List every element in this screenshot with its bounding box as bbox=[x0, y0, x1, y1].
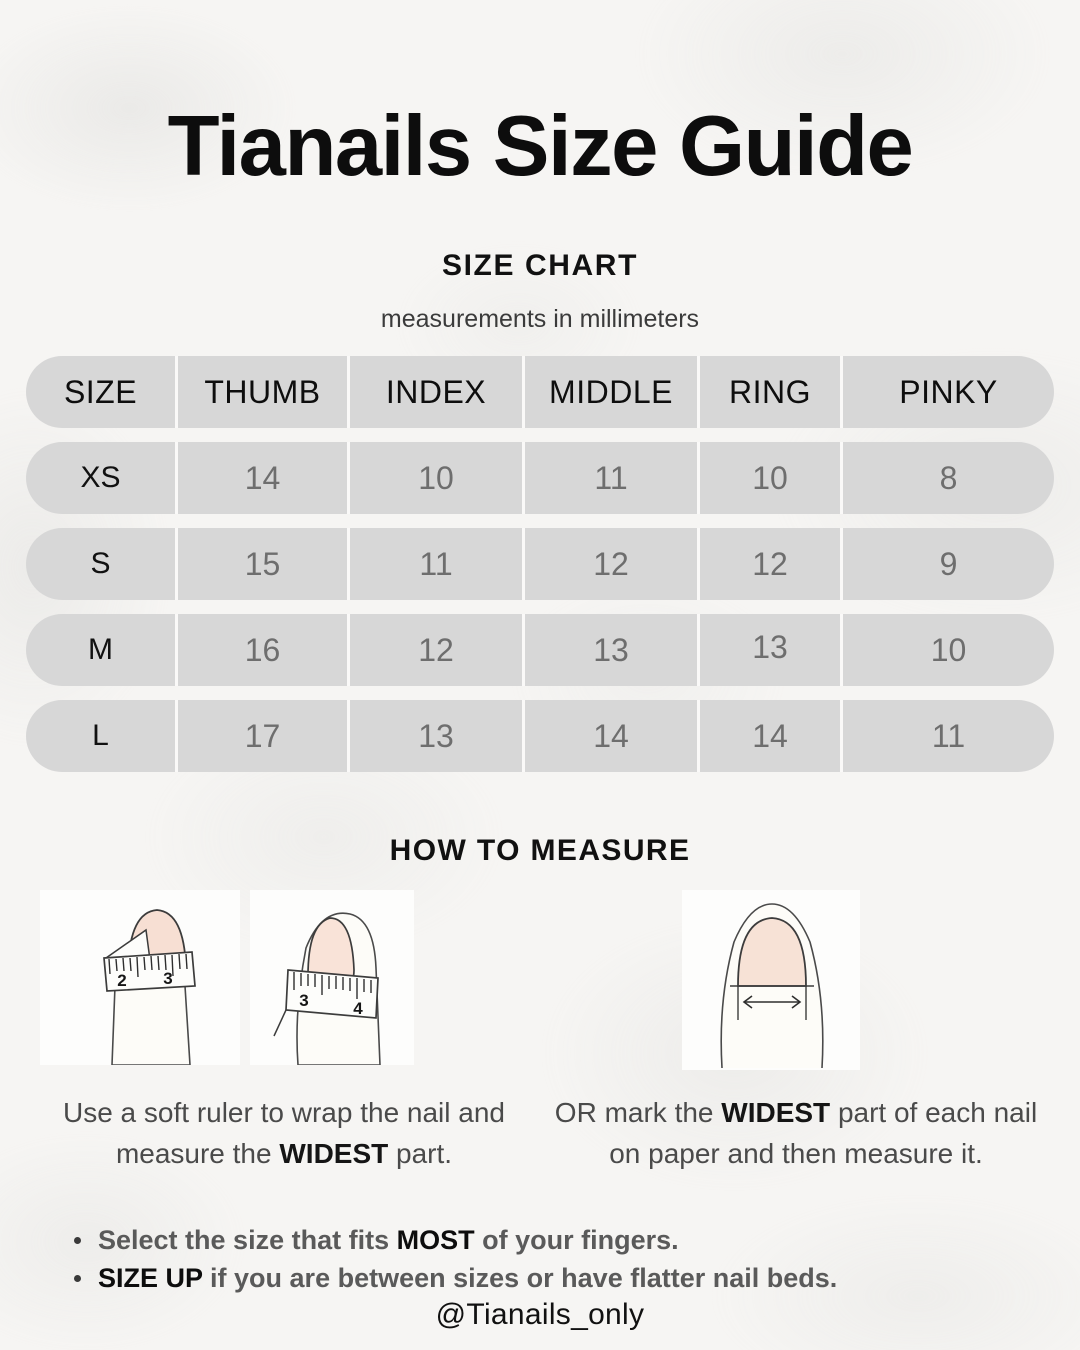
finger-with-tape-ruler-3-4-icon: 3 4 bbox=[250, 890, 414, 1065]
cell-pinky: 10 bbox=[843, 614, 1054, 686]
table-row: S 15 11 12 12 9 bbox=[26, 528, 1054, 600]
cell-ring: 10 bbox=[700, 442, 843, 514]
size-guide-page: Tianails Size Guide SIZE CHART measureme… bbox=[0, 0, 1080, 1350]
caption-right-emphasis: WIDEST bbox=[721, 1097, 830, 1128]
table-row: M 16 12 13 13 10 bbox=[26, 614, 1054, 686]
list-item: Select the size that fits MOST of your f… bbox=[74, 1221, 1080, 1259]
cell-middle: 14 bbox=[525, 700, 700, 772]
nail-widest-part-arrow-icon bbox=[682, 890, 860, 1070]
caption-left: Use a soft ruler to wrap the nail and me… bbox=[28, 1092, 540, 1175]
cell-index: 13 bbox=[350, 700, 525, 772]
illustrations-row: 2 3 bbox=[0, 890, 1080, 1070]
column-header-pinky: PINKY bbox=[843, 356, 1054, 428]
column-header-index: INDEX bbox=[350, 356, 525, 428]
list-item: SIZE UP if you are between sizes or have… bbox=[74, 1259, 1080, 1297]
caption-left-emphasis: WIDEST bbox=[279, 1138, 388, 1169]
tip-emphasis: SIZE UP bbox=[98, 1263, 203, 1293]
sizing-tips-list: Select the size that fits MOST of your f… bbox=[0, 1221, 1080, 1298]
caption-left-text-2: part. bbox=[388, 1138, 452, 1169]
cell-thumb: 14 bbox=[178, 442, 350, 514]
cell-size: M bbox=[26, 614, 178, 686]
caption-right-text-1: OR mark the bbox=[555, 1097, 721, 1128]
cell-pinky: 8 bbox=[843, 442, 1054, 514]
social-handle: @Tianails_only bbox=[0, 1298, 1080, 1332]
captions-row: Use a soft ruler to wrap the nail and me… bbox=[0, 1092, 1080, 1175]
illustration-panel-2: 3 4 bbox=[250, 890, 414, 1065]
cell-size: XS bbox=[26, 442, 178, 514]
illustration-panel-1: 2 3 bbox=[40, 890, 240, 1065]
cell-index: 11 bbox=[350, 528, 525, 600]
tip-emphasis: MOST bbox=[397, 1225, 475, 1255]
cell-middle: 11 bbox=[525, 442, 700, 514]
cell-middle: 13 bbox=[525, 614, 700, 686]
how-to-measure-heading: HOW TO MEASURE bbox=[0, 834, 1080, 868]
measurement-unit-note: measurements in millimeters bbox=[0, 305, 1080, 334]
cell-middle: 12 bbox=[525, 528, 700, 600]
cell-index: 12 bbox=[350, 614, 525, 686]
cell-pinky: 9 bbox=[843, 528, 1054, 600]
column-header-thumb: THUMB bbox=[178, 356, 350, 428]
cell-size: S bbox=[26, 528, 178, 600]
column-header-size: SIZE bbox=[26, 356, 178, 428]
finger-with-tape-ruler-2-3-icon: 2 3 bbox=[40, 890, 240, 1065]
cell-pinky: 11 bbox=[843, 700, 1054, 772]
svg-text:3: 3 bbox=[299, 991, 308, 1010]
table-row: L 17 13 14 14 11 bbox=[26, 700, 1054, 772]
svg-text:3: 3 bbox=[163, 969, 172, 988]
illustration-panel-3 bbox=[682, 890, 860, 1070]
caption-right: OR mark the WIDEST part of each nail on … bbox=[540, 1092, 1052, 1175]
svg-text:2: 2 bbox=[117, 971, 126, 990]
column-header-ring: RING bbox=[700, 356, 843, 428]
cell-ring: 12 bbox=[700, 528, 843, 600]
cell-ring: 13 bbox=[700, 614, 843, 686]
column-header-middle: MIDDLE bbox=[525, 356, 700, 428]
cell-size: L bbox=[26, 700, 178, 772]
cell-thumb: 15 bbox=[178, 528, 350, 600]
cell-thumb: 16 bbox=[178, 614, 350, 686]
table-row: XS 14 10 11 10 8 bbox=[26, 442, 1054, 514]
page-title: Tianails Size Guide bbox=[0, 0, 1080, 189]
tip-text-pre: Select the size that fits bbox=[98, 1225, 397, 1255]
size-chart-heading: SIZE CHART bbox=[0, 249, 1080, 283]
cell-thumb: 17 bbox=[178, 700, 350, 772]
tip-text-post: of your fingers. bbox=[475, 1225, 679, 1255]
table-header-row: SIZE THUMB INDEX MIDDLE RING PINKY bbox=[26, 356, 1054, 428]
svg-text:4: 4 bbox=[353, 999, 363, 1018]
tip-text-post: if you are between sizes or have flatter… bbox=[203, 1263, 838, 1293]
cell-ring: 14 bbox=[700, 700, 843, 772]
cell-index: 10 bbox=[350, 442, 525, 514]
size-chart-table: SIZE THUMB INDEX MIDDLE RING PINKY XS 14… bbox=[26, 356, 1054, 772]
